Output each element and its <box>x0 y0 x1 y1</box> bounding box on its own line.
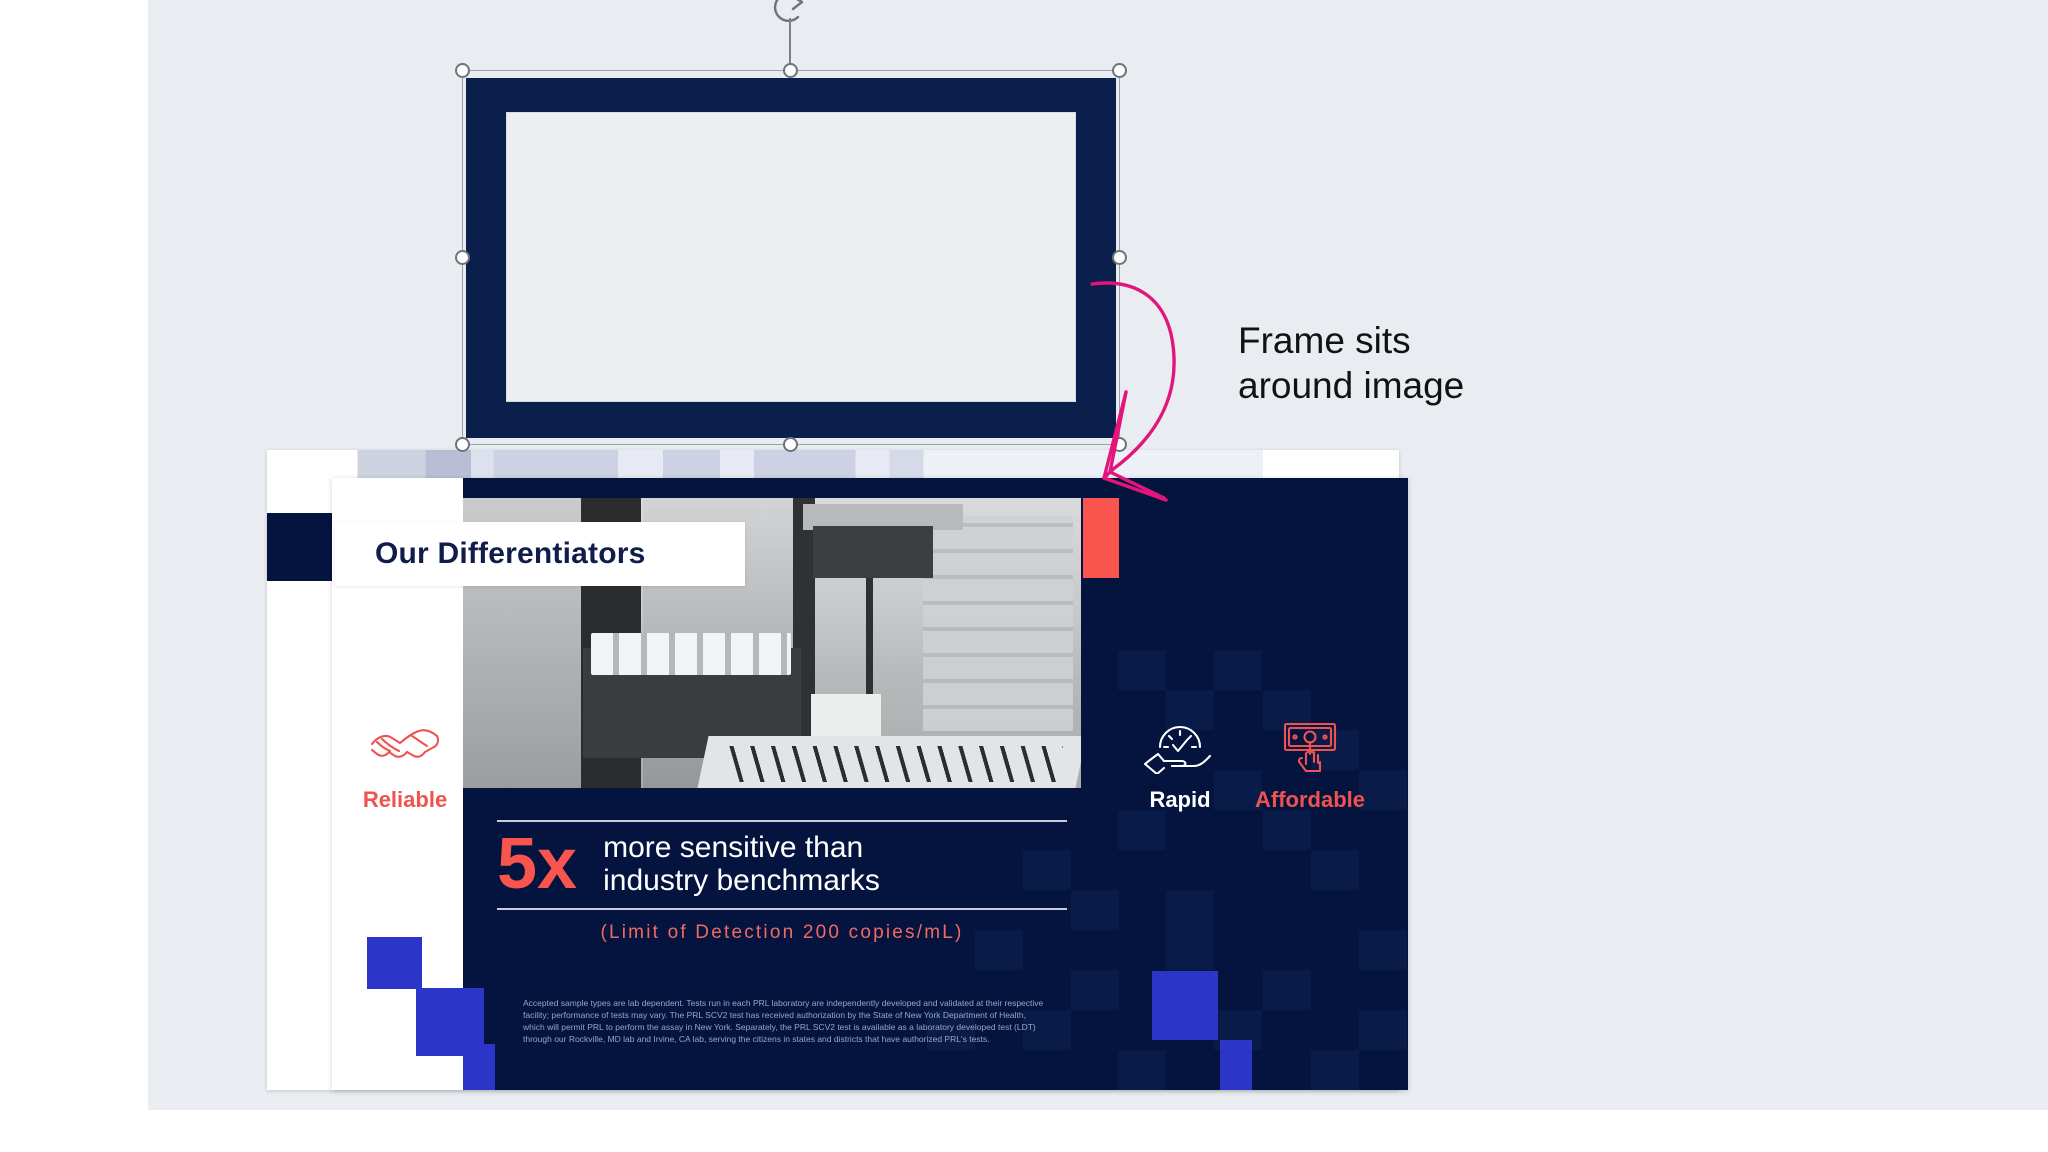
page-title: Our Differentiators <box>375 537 646 571</box>
differentiator-reliable[interactable]: Reliable <box>330 718 480 813</box>
handshake-icon <box>367 718 443 774</box>
stat-block: 5x more sensitive than industry benchmar… <box>497 820 1067 954</box>
stat-number: 5x <box>497 830 577 898</box>
resize-handle-top-left[interactable] <box>455 63 470 78</box>
photo-pipette-head <box>813 526 933 578</box>
photo-bench-tools <box>723 746 1063 782</box>
photo-window <box>923 516 1073 731</box>
photo-pipette-tip <box>866 578 873 703</box>
differentiator-label: Rapid <box>1105 787 1255 813</box>
selection-bounding-box <box>462 70 1120 445</box>
resize-handle-top-center[interactable] <box>783 63 798 78</box>
resize-handle-middle-left[interactable] <box>455 250 470 265</box>
blue-square-decoration <box>367 937 422 989</box>
stat-text: more sensitive than industry benchmarks <box>603 831 880 898</box>
blue-square-decoration <box>1220 1040 1252 1090</box>
disclaimer-text: Accepted sample types are lab dependent.… <box>523 997 1048 1045</box>
blue-square-decoration <box>1152 971 1218 1040</box>
differentiator-rapid[interactable]: Rapid <box>1105 718 1255 813</box>
stat-row: 5x more sensitive than industry benchmar… <box>497 822 1067 908</box>
hand-clock-icon <box>1142 718 1218 774</box>
work-area-bottom-margin <box>148 1110 2048 1152</box>
editor-canvas: Our Differentiators Reliable <box>0 0 2048 1152</box>
resize-handle-top-right[interactable] <box>1112 63 1127 78</box>
resize-handle-bottom-center[interactable] <box>783 437 798 452</box>
differentiator-label: Affordable <box>1235 787 1385 813</box>
annotation-arrow <box>1090 262 1350 602</box>
differentiator-affordable[interactable]: Affordable <box>1235 718 1385 813</box>
navy-square-decoration <box>267 513 340 581</box>
blue-square-decoration <box>463 1044 495 1090</box>
money-hand-icon <box>1272 718 1348 774</box>
stat-subtext: (Limit of Detection 200 copies/mL) <box>497 910 1067 954</box>
photo-test-tubes <box>591 633 791 675</box>
annotation-label: Frame sits around image <box>1238 318 1464 408</box>
slide-title-banner[interactable]: Our Differentiators <box>335 522 745 586</box>
differentiator-label: Reliable <box>330 787 480 813</box>
resize-handle-bottom-left[interactable] <box>455 437 470 452</box>
